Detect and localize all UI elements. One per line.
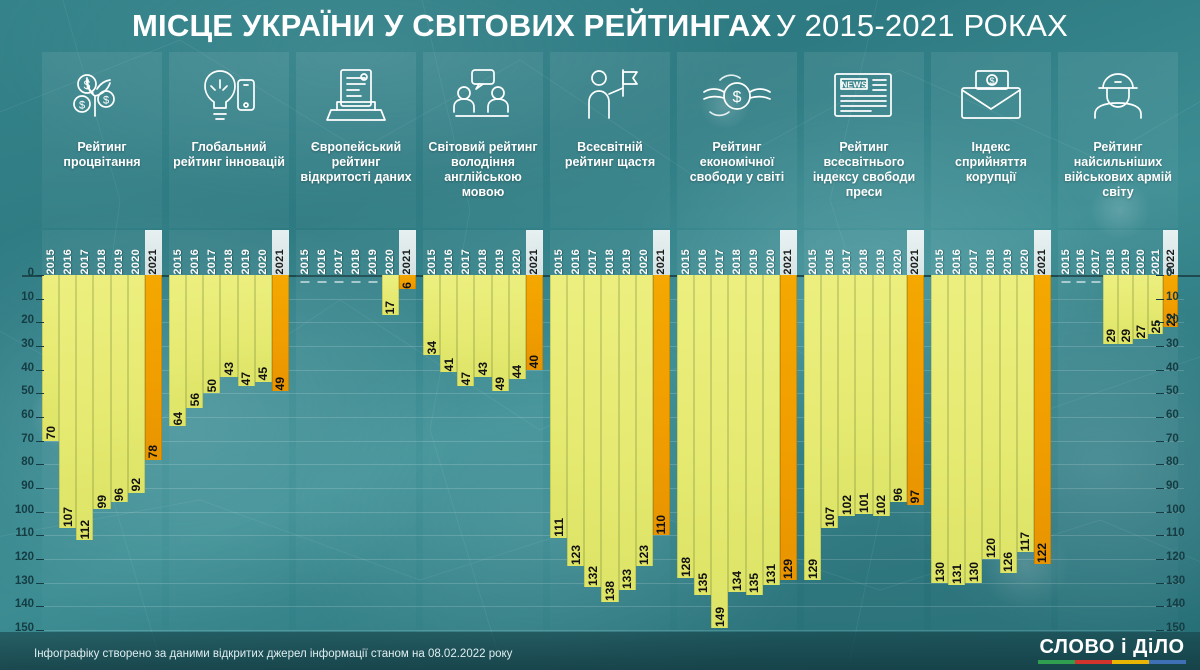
bar-corruption-perception-2018[interactable]: 120 (982, 275, 999, 559)
year-label-happiness-2019: 2019 (619, 230, 636, 275)
year-text: 2020 (765, 247, 777, 275)
person-flag-icon (550, 52, 670, 140)
bar-press-freedom-2020[interactable]: 96 (890, 275, 907, 502)
year-text: 2015 (299, 247, 311, 275)
year-text: 2015 (553, 247, 565, 275)
bar-happiness-2017[interactable]: 132 (584, 275, 601, 587)
year-label-open-data-2015: 2015 (296, 230, 313, 275)
bar-group-economic-freedom: 2015201620172018201920202021128135149134… (677, 275, 797, 630)
bar-column-global-innovation-2016[interactable]: 56 (186, 275, 203, 630)
axis-dash-left-40 (36, 370, 44, 371)
bar-column-corruption-perception-2015[interactable]: 130 (931, 275, 948, 630)
category-column-happiness: Всесвітній рейтинг щастя (550, 52, 670, 228)
year-text: 2018 (223, 247, 235, 275)
bar-value-label: 50 (204, 358, 219, 392)
bar-column-economic-freedom-2017[interactable]: 149 (711, 275, 728, 630)
bar-column-open-data-2015[interactable] (296, 275, 313, 630)
bar-economic-freedom-2021[interactable]: 129 (780, 275, 797, 580)
year-text: 2016 (443, 247, 455, 275)
axis-dash-left-140 (36, 606, 44, 607)
bar-global-innovation-2021[interactable]: 49 (272, 275, 289, 391)
axis-dash-left-90 (36, 488, 44, 489)
axis-tick-right-30: 30 (1166, 338, 1200, 350)
year-text: 2021 (909, 247, 921, 275)
axis-tick-left-70: 70 (0, 433, 34, 445)
bar-column-prosperity-2017[interactable]: 112 (76, 275, 93, 630)
bar-column-prosperity-2021[interactable]: 78 (145, 275, 162, 630)
bar-military-strength-2020[interactable]: 27 (1133, 275, 1148, 339)
bar-value-text: 47 (239, 371, 253, 385)
bar-value-text: 99 (95, 494, 109, 508)
year-text: 2018 (477, 247, 489, 275)
bar-value-label: 101 (856, 479, 871, 513)
axis-tick-left-30: 30 (0, 338, 34, 350)
year-text: 2020 (1019, 247, 1031, 275)
bar-column-open-data-2017[interactable] (330, 275, 347, 630)
bar-column-english-proficiency-2020[interactable]: 44 (509, 275, 526, 630)
year-label-prosperity-2016: 2016 (59, 230, 76, 275)
bar-column-prosperity-2015[interactable]: 70 (42, 275, 59, 630)
bar-value-label: 131 (764, 550, 779, 584)
year-label-happiness-2021: 2021 (653, 230, 670, 275)
bar-column-military-strength-2021[interactable]: 25 (1148, 275, 1163, 630)
bar-column-corruption-perception-2020[interactable]: 117 (1017, 275, 1034, 630)
category-column-military-strength: Рейтинг найсильніших військових армій св… (1058, 52, 1178, 228)
bar-column-military-strength-2015[interactable] (1058, 275, 1073, 630)
bar-open-data-2021[interactable]: 6 (399, 275, 416, 289)
bar-value-label: 102 (839, 481, 854, 515)
bar-value-text: 130 (967, 561, 981, 582)
bar-column-press-freedom-2020[interactable]: 96 (890, 275, 907, 630)
bar-economic-freedom-2015[interactable]: 128 (677, 275, 694, 578)
bar-column-open-data-2019[interactable] (365, 275, 382, 630)
bar-value-text: 92 (129, 477, 143, 491)
category-label-press-freedom: Рейтинг всесвітнього індексу свободи пре… (804, 140, 924, 200)
year-label-press-freedom-2020: 2020 (890, 230, 907, 275)
bar-value-text: 97 (908, 489, 922, 503)
bar-column-prosperity-2019[interactable]: 96 (111, 275, 128, 630)
bar-value-label: 27 (1134, 304, 1147, 338)
bar-value-label: 122 (1035, 529, 1050, 563)
bar-press-freedom-2015[interactable]: 129 (804, 275, 821, 580)
year-text: 2015 (172, 247, 184, 275)
bar-value-text: 111 (552, 517, 566, 537)
bar-column-happiness-2015[interactable]: 111 (550, 275, 567, 630)
year-label-military-strength-2018: 2018 (1103, 230, 1118, 275)
bar-value-label: 112 (77, 505, 92, 539)
bar-prosperity-2017[interactable]: 112 (76, 275, 93, 540)
bar-group-happiness: 2015201620172018201920202021111123132138… (550, 275, 670, 630)
year-label-global-innovation-2018: 2018 (220, 230, 237, 275)
bar-value-text: 128 (679, 556, 693, 577)
axis-dash-left-30 (36, 346, 44, 347)
year-text: 2019 (240, 247, 252, 275)
bar-column-open-data-2021[interactable]: 6 (399, 275, 416, 630)
year-text: 2017 (1090, 247, 1102, 275)
bar-value-text: 131 (764, 563, 778, 584)
axis-dash-right-150 (1156, 630, 1164, 631)
year-label-corruption-perception-2017: 2017 (965, 230, 982, 275)
category-column-global-innovation: Глобальний рейтинг інновацій (169, 52, 289, 228)
bar-english-proficiency-2021[interactable]: 40 (526, 275, 543, 370)
bar-column-military-strength-2017[interactable] (1088, 275, 1103, 630)
svg-text:$: $ (989, 76, 994, 86)
year-text: 2017 (714, 247, 726, 275)
bar-global-innovation-2015[interactable]: 64 (169, 275, 186, 426)
axis-tick-left-100: 100 (0, 504, 34, 516)
bar-value-label: 131 (949, 550, 964, 584)
year-label-press-freedom-2015: 2015 (804, 230, 821, 275)
bar-column-happiness-2018[interactable]: 138 (601, 275, 618, 630)
year-text: 2020 (638, 247, 650, 275)
bar-column-military-strength-2019[interactable]: 29 (1118, 275, 1133, 630)
year-label-open-data-2020: 2020 (382, 230, 399, 275)
bar-column-open-data-2018[interactable] (347, 275, 364, 630)
bar-press-freedom-2017[interactable]: 102 (838, 275, 855, 516)
year-label-happiness-2017: 2017 (584, 230, 601, 275)
bar-column-prosperity-2018[interactable]: 99 (93, 275, 110, 630)
bar-value-text: 29 (1104, 328, 1118, 342)
bars-english-proficiency: 34414743494440 (423, 275, 543, 630)
bar-value-text: 126 (1001, 551, 1015, 572)
bar-column-english-proficiency-2016[interactable]: 41 (440, 275, 457, 630)
bar-column-press-freedom-2018[interactable]: 101 (855, 275, 872, 630)
year-text: 2016 (189, 247, 201, 275)
year-label-prosperity-2021: 2021 (145, 230, 162, 275)
bar-value-label: 43 (221, 342, 236, 376)
bar-column-economic-freedom-2021[interactable]: 129 (780, 275, 797, 630)
bar-english-proficiency-2019[interactable]: 49 (492, 275, 509, 391)
bar-corruption-perception-2017[interactable]: 130 (965, 275, 982, 583)
bar-column-happiness-2017[interactable]: 132 (584, 275, 601, 630)
bar-value-text: 70 (44, 425, 58, 439)
bar-value-text: 149 (713, 606, 727, 627)
bar-column-global-innovation-2015[interactable]: 64 (169, 275, 186, 630)
bar-value-text: 101 (857, 492, 871, 513)
bar-value-text: 120 (984, 537, 998, 558)
bar-column-press-freedom-2016[interactable]: 107 (821, 275, 838, 630)
bar-column-corruption-perception-2016[interactable]: 131 (948, 275, 965, 630)
bar-value-label: 135 (747, 560, 762, 594)
bar-value-text: 96 (112, 487, 126, 501)
year-label-corruption-perception-2016: 2016 (948, 230, 965, 275)
bar-column-english-proficiency-2019[interactable]: 49 (492, 275, 509, 630)
bar-economic-freedom-2016[interactable]: 135 (694, 275, 711, 595)
category-label-prosperity: Рейтинг процвітання (42, 140, 162, 170)
no-data-dash (369, 281, 378, 283)
bar-column-global-innovation-2017[interactable]: 50 (203, 275, 220, 630)
year-label-press-freedom-2016: 2016 (821, 230, 838, 275)
bar-value-label: 34 (424, 320, 439, 354)
category-label-economic-freedom: Рейтинг економічної свободи у світі (677, 140, 797, 185)
bar-value-label: 49 (493, 356, 508, 390)
year-text: 2019 (1120, 247, 1132, 275)
bar-column-prosperity-2020[interactable]: 92 (128, 275, 145, 630)
bar-prosperity-2018[interactable]: 99 (93, 275, 110, 509)
axis-tick-right-10: 10 (1166, 291, 1200, 303)
bar-corruption-perception-2020[interactable]: 117 (1017, 275, 1034, 552)
bar-value-text: 43 (222, 361, 236, 375)
bar-happiness-2018[interactable]: 138 (601, 275, 618, 602)
bar-press-freedom-2021[interactable]: 97 (907, 275, 924, 505)
bar-value-text: 78 (146, 444, 160, 458)
category-label-open-data: Європейський рейтинг відкритості даних (296, 140, 416, 185)
bar-column-corruption-perception-2017[interactable]: 130 (965, 275, 982, 630)
bar-open-data-2020[interactable]: 17 (382, 275, 399, 315)
year-text: 2015 (426, 247, 438, 275)
year-label-global-innovation-2021: 2021 (272, 230, 289, 275)
bar-column-press-freedom-2019[interactable]: 102 (873, 275, 890, 630)
bar-group-prosperity: 2015201620172018201920202021701071129996… (42, 275, 162, 630)
bar-value-text: 29 (1119, 328, 1133, 342)
axis-dash-right-60 (1156, 417, 1164, 418)
bar-value-label: 129 (781, 545, 796, 579)
axis-dash-right-110 (1156, 535, 1164, 536)
axis-dash-left-60 (36, 417, 44, 418)
bar-value-label: 130 (966, 548, 981, 582)
bar-column-happiness-2021[interactable]: 110 (653, 275, 670, 630)
bar-column-economic-freedom-2018[interactable]: 134 (728, 275, 745, 630)
year-label-press-freedom-2019: 2019 (873, 230, 890, 275)
bar-value-text: 64 (171, 411, 185, 425)
year-text: 2020 (130, 247, 142, 275)
bar-column-economic-freedom-2020[interactable]: 131 (763, 275, 780, 630)
axis-dash-right-50 (1156, 393, 1164, 394)
chart-area: 2015201620172018201920202021701071129996… (0, 230, 1200, 632)
bar-value-text: 44 (510, 364, 524, 378)
bar-column-global-innovation-2020[interactable]: 45 (255, 275, 272, 630)
bar-english-proficiency-2016[interactable]: 41 (440, 275, 457, 372)
bar-corruption-perception-2015[interactable]: 130 (931, 275, 948, 583)
year-label-prosperity-2019: 2019 (111, 230, 128, 275)
bar-military-strength-2019[interactable]: 29 (1118, 275, 1133, 344)
year-text: 2019 (113, 247, 125, 275)
bar-column-economic-freedom-2015[interactable]: 128 (677, 275, 694, 630)
year-label-happiness-2015: 2015 (550, 230, 567, 275)
bar-value-text: 43 (476, 361, 490, 375)
year-label-global-innovation-2017: 2017 (203, 230, 220, 275)
bar-value-label: 133 (620, 555, 635, 589)
year-text: 2015 (1060, 247, 1072, 275)
year-label-economic-freedom-2016: 2016 (694, 230, 711, 275)
year-text: 2020 (511, 247, 523, 275)
bar-column-global-innovation-2018[interactable]: 43 (220, 275, 237, 630)
bar-group-global-innovation: 2015201620172018201920202021645650434745… (169, 275, 289, 630)
money-envelope-icon: $ (931, 52, 1051, 140)
year-text: 2018 (96, 247, 108, 275)
bar-column-corruption-perception-2018[interactable]: 120 (982, 275, 999, 630)
bar-group-press-freedom: 2015201620172018201920202021129107102101… (804, 275, 924, 630)
bar-global-innovation-2017[interactable]: 50 (203, 275, 220, 393)
bar-prosperity-2020[interactable]: 92 (128, 275, 145, 493)
bar-prosperity-2021[interactable]: 78 (145, 275, 162, 460)
bar-column-press-freedom-2021[interactable]: 97 (907, 275, 924, 630)
year-label-prosperity-2017: 2017 (76, 230, 93, 275)
year-label-economic-freedom-2017: 2017 (711, 230, 728, 275)
bars-corruption-perception: 130131130120126117122 (931, 275, 1051, 630)
bar-column-open-data-2016[interactable] (313, 275, 330, 630)
bar-press-freedom-2018[interactable]: 101 (855, 275, 872, 514)
bar-column-global-innovation-2019[interactable]: 47 (238, 275, 255, 630)
bar-column-military-strength-2018[interactable]: 29 (1103, 275, 1118, 630)
year-text: 2019 (494, 247, 506, 275)
bar-column-global-innovation-2021[interactable]: 49 (272, 275, 289, 630)
bar-value-label: 96 (112, 467, 127, 501)
year-text: 2015 (934, 247, 946, 275)
bar-column-press-freedom-2017[interactable]: 102 (838, 275, 855, 630)
axis-tick-left-50: 50 (0, 385, 34, 397)
axis-dash-right-140 (1156, 606, 1164, 607)
bar-value-text: 50 (205, 378, 219, 392)
axis-tick-right-120: 120 (1166, 551, 1200, 563)
bar-column-economic-freedom-2019[interactable]: 135 (746, 275, 763, 630)
bar-column-corruption-perception-2019[interactable]: 126 (1000, 275, 1017, 630)
bar-corruption-perception-2021[interactable]: 122 (1034, 275, 1051, 564)
year-label-economic-freedom-2021: 2021 (780, 230, 797, 275)
bar-happiness-2015[interactable]: 111 (550, 275, 567, 538)
year-label-military-strength-2020: 2020 (1133, 230, 1148, 275)
axis-tick-left-0: 0 (0, 267, 34, 279)
bar-english-proficiency-2018[interactable]: 43 (474, 275, 491, 377)
bar-value-text: 129 (781, 558, 795, 579)
axis-tick-right-80: 80 (1166, 456, 1200, 468)
bar-column-prosperity-2016[interactable]: 107 (59, 275, 76, 630)
bar-happiness-2020[interactable]: 123 (636, 275, 653, 566)
bar-economic-freedom-2020[interactable]: 131 (763, 275, 780, 585)
axis-dash-left-120 (36, 559, 44, 560)
year-axis-happiness: 2015201620172018201920202021 (550, 230, 670, 275)
bar-global-innovation-2020[interactable]: 45 (255, 275, 272, 382)
bar-column-military-strength-2016[interactable] (1073, 275, 1088, 630)
bar-economic-freedom-2019[interactable]: 135 (746, 275, 763, 595)
year-label-economic-freedom-2020: 2020 (763, 230, 780, 275)
bar-value-text: 134 (730, 570, 744, 591)
category-label-global-innovation: Глобальний рейтинг інновацій (169, 140, 289, 170)
bars-economic-freedom: 128135149134135131129 (677, 275, 797, 630)
axis-dash-right-20 (1156, 322, 1164, 323)
bar-column-happiness-2020[interactable]: 123 (636, 275, 653, 630)
bar-value-label: 29 (1104, 309, 1117, 343)
bar-column-english-proficiency-2018[interactable]: 43 (474, 275, 491, 630)
year-text: 2021 (147, 247, 159, 275)
bar-value-text: 135 (696, 572, 710, 593)
bar-english-proficiency-2017[interactable]: 47 (457, 275, 474, 386)
bar-column-corruption-perception-2021[interactable]: 122 (1034, 275, 1051, 630)
bar-column-open-data-2020[interactable]: 17 (382, 275, 399, 630)
bar-value-text: 133 (620, 568, 634, 589)
year-text: 2018 (731, 247, 743, 275)
bar-economic-freedom-2017[interactable]: 149 (711, 275, 728, 628)
bar-value-text: 135 (747, 572, 761, 593)
bar-value-text: 49 (493, 376, 507, 390)
bar-global-innovation-2018[interactable]: 43 (220, 275, 237, 377)
bar-value-label: 41 (441, 337, 456, 371)
bar-value-label: 128 (678, 543, 693, 577)
bar-column-english-proficiency-2021[interactable]: 40 (526, 275, 543, 630)
bar-column-english-proficiency-2017[interactable]: 47 (457, 275, 474, 630)
axis-tick-right-0: 0 (1166, 267, 1200, 279)
page-title: МІСЦЕ УКРАЇНИ У СВІТОВИХ РЕЙТИНГАХ У 201… (0, 8, 1200, 44)
bar-value-label: 123 (637, 531, 652, 565)
year-text: 2017 (206, 247, 218, 275)
year-text: 2018 (604, 247, 616, 275)
bar-column-english-proficiency-2015[interactable]: 34 (423, 275, 440, 630)
bar-value-text: 17 (383, 300, 397, 314)
year-label-english-proficiency-2021: 2021 (526, 230, 543, 275)
axis-tick-left-130: 130 (0, 575, 34, 587)
bar-happiness-2016[interactable]: 123 (567, 275, 584, 566)
bar-prosperity-2019[interactable]: 96 (111, 275, 128, 502)
brand-logo: СЛОВО і ДіЛО (1038, 636, 1186, 664)
bar-column-happiness-2019[interactable]: 133 (619, 275, 636, 630)
bar-military-strength-2021[interactable]: 25 (1148, 275, 1163, 334)
year-label-military-strength-2016: 2016 (1073, 230, 1088, 275)
year-text: 2018 (858, 247, 870, 275)
bar-value-label: 97 (908, 470, 923, 504)
bar-corruption-perception-2016[interactable]: 131 (948, 275, 965, 585)
bar-press-freedom-2019[interactable]: 102 (873, 275, 890, 516)
bar-value-text: 138 (603, 580, 617, 601)
year-text: 2019 (875, 247, 887, 275)
bar-value-label: 135 (695, 560, 710, 594)
year-text: 2019 (621, 247, 633, 275)
bar-global-innovation-2019[interactable]: 47 (238, 275, 255, 386)
bar-economic-freedom-2018[interactable]: 134 (728, 275, 745, 592)
axis-dash-left-0 (36, 275, 44, 276)
bar-prosperity-2016[interactable]: 107 (59, 275, 76, 528)
bar-global-innovation-2016[interactable]: 56 (186, 275, 203, 408)
year-text: 2021 (655, 247, 667, 275)
bar-happiness-2021[interactable]: 110 (653, 275, 670, 535)
category-column-economic-freedom: $ Рейтинг економічної свободи у світі (677, 52, 797, 228)
year-text: 2015 (807, 247, 819, 275)
bar-military-strength-2018[interactable]: 29 (1103, 275, 1118, 344)
title-main: МІСЦЕ УКРАЇНИ У СВІТОВИХ РЕЙТИНГАХ (132, 8, 771, 43)
bar-value-label: 49 (273, 356, 288, 390)
title-period: У 2015-2021 РОКАХ (776, 8, 1068, 43)
bar-value-label: 25 (1149, 299, 1162, 333)
gridline-150 (42, 630, 1184, 631)
bar-column-military-strength-2020[interactable]: 27 (1133, 275, 1148, 630)
bar-corruption-perception-2019[interactable]: 126 (1000, 275, 1017, 573)
bars-open-data: 176 (296, 275, 416, 630)
axis-dash-left-130 (36, 583, 44, 584)
bar-prosperity-2015[interactable]: 70 (42, 275, 59, 441)
bar-value-label: 45 (256, 347, 271, 381)
year-text: 2016 (697, 247, 709, 275)
bar-english-proficiency-2020[interactable]: 44 (509, 275, 526, 379)
bar-group-open-data: 2015201620172018201920202021176 (296, 275, 416, 630)
bar-value-label: 126 (1001, 538, 1016, 572)
bar-group-english-proficiency: 2015201620172018201920202021344147434944… (423, 275, 543, 630)
bar-press-freedom-2016[interactable]: 107 (821, 275, 838, 528)
year-text: 2016 (951, 247, 963, 275)
bar-column-happiness-2016[interactable]: 123 (567, 275, 584, 630)
bar-value-label: 47 (239, 351, 254, 385)
bar-group-military-strength: 2015201620172018201920202021202229292725… (1058, 275, 1178, 630)
bar-value-text: 107 (61, 506, 75, 527)
bar-column-economic-freedom-2016[interactable]: 135 (694, 275, 711, 630)
bar-value-text: 123 (569, 544, 583, 565)
year-text: 2021 (274, 247, 286, 275)
bar-column-press-freedom-2015[interactable]: 129 (804, 275, 821, 630)
no-data-dash (1076, 281, 1085, 283)
year-label-global-innovation-2020: 2020 (255, 230, 272, 275)
bar-value-label: 92 (129, 458, 144, 492)
bars-happiness: 111123132138133123110 (550, 275, 670, 630)
bar-english-proficiency-2015[interactable]: 34 (423, 275, 440, 355)
bar-happiness-2019[interactable]: 133 (619, 275, 636, 590)
